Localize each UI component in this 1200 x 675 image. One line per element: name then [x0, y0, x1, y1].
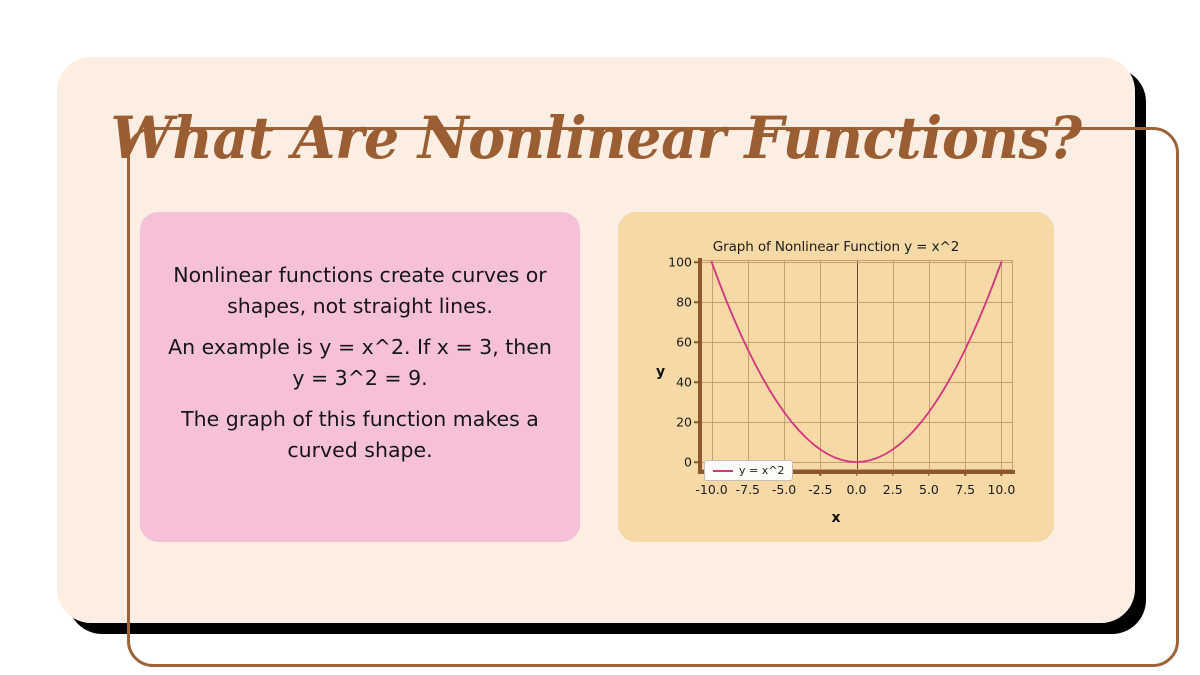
- chart-title: Graph of Nonlinear Function y = x^2: [618, 239, 1054, 255]
- x-tick-mark: [856, 470, 858, 476]
- y-axis-spine: [698, 258, 702, 474]
- y-tick-mark: [694, 341, 700, 343]
- y-tick-label: 100: [652, 255, 692, 270]
- x-tick-mark: [820, 470, 822, 476]
- explanation-paragraph-1: Nonlinear functions create curves or sha…: [166, 260, 554, 322]
- x-tick-label: 10.0: [971, 482, 1031, 497]
- chart-panel: Graph of Nonlinear Function y = x^2 0204…: [618, 212, 1054, 542]
- explanation-paragraph-3: The graph of this function makes a curve…: [166, 404, 554, 466]
- legend-line-swatch-icon: [713, 470, 733, 472]
- x-axis-label: x: [618, 510, 1054, 526]
- y-tick-label: 20: [652, 415, 692, 430]
- y-tick-mark: [694, 261, 700, 263]
- plot-area: [700, 260, 1013, 470]
- x-tick-mark: [892, 470, 894, 476]
- y-tick-label: 0: [652, 455, 692, 470]
- y-tick-label: 80: [652, 295, 692, 310]
- y-tick-label: 60: [652, 335, 692, 350]
- page-title: What Are Nonlinear Functions?: [91, 104, 1101, 172]
- y-tick-mark: [694, 421, 700, 423]
- explanation-panel: Nonlinear functions create curves or sha…: [140, 212, 580, 542]
- x-tick-mark: [928, 470, 930, 476]
- explanation-paragraph-2: An example is y = x^2. If x = 3, then y …: [166, 332, 554, 394]
- curve-y-equals-x-squared: [700, 260, 1013, 470]
- y-tick-mark: [694, 381, 700, 383]
- y-tick-mark: [694, 301, 700, 303]
- y-axis-label: y: [656, 364, 665, 380]
- x-tick-mark: [1001, 470, 1003, 476]
- legend-label: y = x^2: [739, 464, 784, 477]
- y-tick-mark: [694, 461, 700, 463]
- chart-legend: y = x^2: [704, 460, 793, 481]
- x-tick-mark: [964, 470, 966, 476]
